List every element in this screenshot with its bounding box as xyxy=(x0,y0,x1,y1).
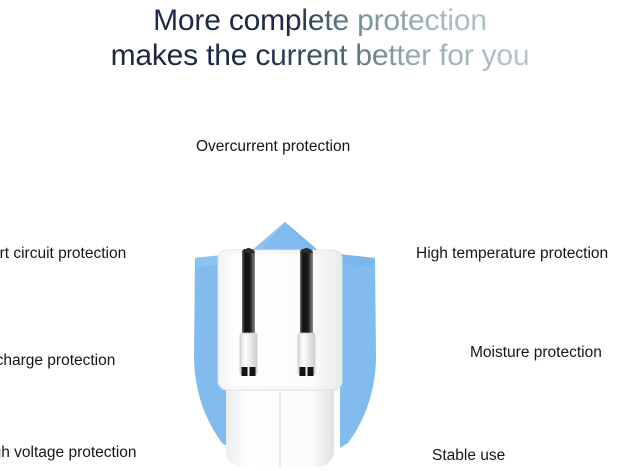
headline-line-2: makes the current better for you xyxy=(0,39,640,74)
charger-prong-right xyxy=(298,248,315,376)
label-stable-use: Stable use xyxy=(432,447,505,465)
label-high-temperature-protection: High temperature protection xyxy=(416,245,608,263)
label-overcurrent-protection: Overcurrent protection xyxy=(196,138,350,156)
wall-charger-body xyxy=(218,250,342,468)
page-title: More complete protection makes the curre… xyxy=(0,4,640,74)
shield-charger-illustration xyxy=(170,205,410,471)
label-overcharge-protection: Overcharge protection xyxy=(0,352,115,370)
label-high-voltage-protection: High voltage protection xyxy=(0,444,137,462)
label-moisture-protection: Moisture protection xyxy=(470,344,602,362)
headline-line-1: More complete protection xyxy=(0,4,640,39)
protection-features-infographic: More complete protection makes the curre… xyxy=(0,0,640,471)
label-short-circuit-protection: Short circuit protection xyxy=(0,245,126,263)
charger-prong-left xyxy=(240,248,257,376)
